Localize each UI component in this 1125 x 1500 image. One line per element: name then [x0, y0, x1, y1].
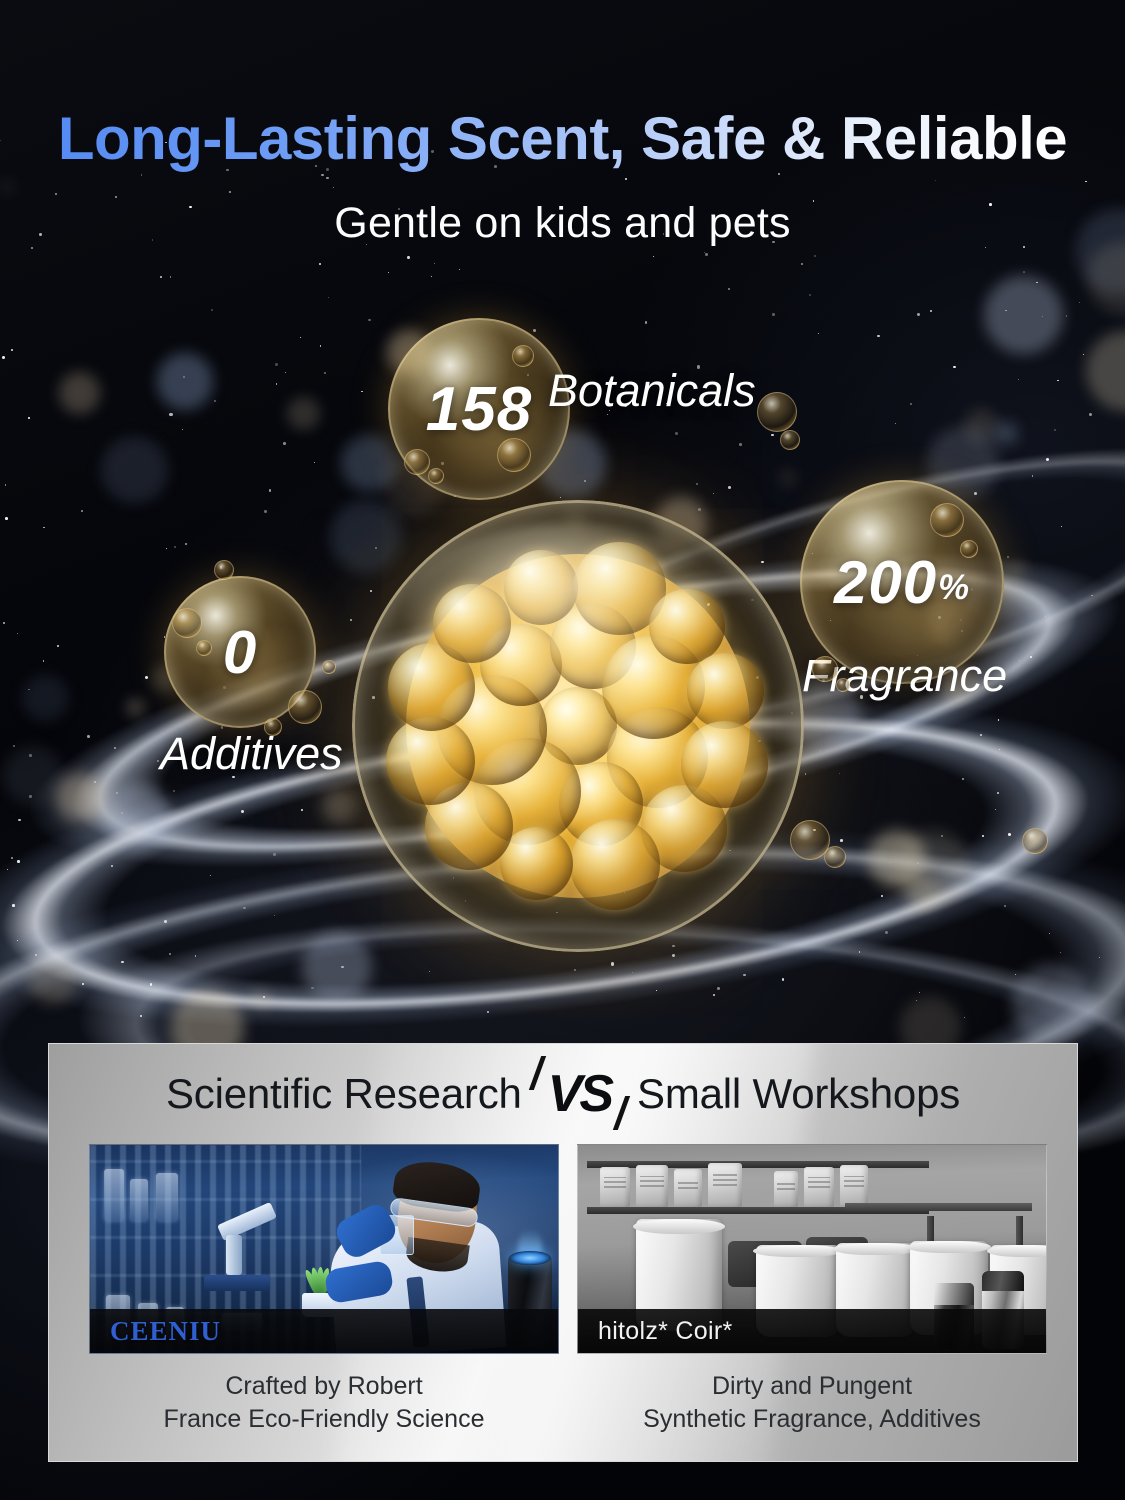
microscope-icon — [198, 1213, 294, 1299]
bottle-icon — [156, 1173, 178, 1221]
lab-brand-bar: CEENIU — [90, 1309, 558, 1353]
bokeh-circle — [127, 699, 144, 716]
decorative-bubble — [780, 430, 800, 450]
bokeh-circle — [287, 397, 320, 430]
lab-photo: CEENIU — [89, 1144, 559, 1354]
comparison-heading: Scientific Research VS Small Workshops — [49, 1044, 1077, 1144]
sphere-droplet — [504, 550, 578, 624]
bokeh-circle — [1086, 331, 1125, 411]
chemical-jug-7 — [840, 1165, 868, 1207]
beaker-icon — [104, 1169, 124, 1221]
workshop-caption-line1: Dirty and Pungent — [577, 1370, 1047, 1403]
chemical-jug-3 — [674, 1169, 702, 1207]
page-title: Long-Lasting Scent, Safe & Reliable — [0, 104, 1125, 173]
sphere-droplet — [681, 721, 768, 808]
comparison-side-scientific: CEENIU Crafted by Robert France Eco-Frie… — [89, 1144, 559, 1436]
stat-value-additives: 0 — [164, 576, 316, 728]
bokeh-circle — [1012, 964, 1093, 1045]
comparison-right-title: Small Workshops — [637, 1070, 960, 1118]
bokeh-circle — [108, 783, 169, 844]
page-subtitle: Gentle on kids and pets — [0, 199, 1125, 248]
bokeh-circle — [22, 675, 69, 722]
decorative-bubble — [757, 392, 797, 432]
bokeh-circle — [322, 789, 357, 824]
stat-value-botanicals: 158 — [388, 318, 570, 500]
comparison-left-title: Scientific Research — [166, 1070, 522, 1118]
bokeh-circle — [253, 992, 268, 1007]
stat-label-additives: Additives — [160, 728, 343, 780]
bokeh-circle — [3, 746, 62, 805]
decorative-bubble — [322, 660, 336, 674]
bokeh-circle — [28, 956, 77, 1005]
sphere-droplet — [649, 589, 725, 665]
lab-caption-line1: Crafted by Robert — [89, 1370, 559, 1403]
brand-logo-competitors: hitolz* Coir* — [598, 1317, 733, 1346]
fragrance-sphere-graphic — [352, 500, 804, 952]
bokeh-circle — [302, 932, 372, 1002]
sphere-droplet — [687, 653, 764, 730]
stat-label-botanicals: Botanicals — [548, 365, 756, 417]
comparison-columns: CEENIU Crafted by Robert France Eco-Frie… — [49, 1144, 1077, 1436]
bokeh-circle — [59, 372, 101, 414]
bokeh-circle — [330, 501, 402, 573]
chemical-jug-5 — [774, 1171, 798, 1207]
bokeh-circle — [0, 180, 14, 194]
chemical-jug-2 — [636, 1165, 668, 1207]
workshop-caption: Dirty and Pungent Synthetic Fragrance, A… — [577, 1370, 1047, 1436]
workshop-photo: hitolz* Coir* — [577, 1144, 1047, 1354]
sphere-droplet — [433, 584, 511, 662]
product-feature-poster: Long-Lasting Scent, Safe & Reliable Gent… — [0, 0, 1125, 1500]
chemical-jug-4 — [708, 1163, 742, 1207]
chemical-jug-1 — [600, 1167, 630, 1207]
bokeh-circle — [1009, 562, 1024, 577]
percent-sign-icon: % — [938, 568, 970, 608]
stat-bubble-additives: 0 — [164, 576, 316, 728]
comparison-panel: Scientific Research VS Small Workshops — [48, 1043, 1078, 1462]
bokeh-circle — [101, 437, 167, 503]
sphere-droplet — [570, 819, 661, 910]
flask-icon — [130, 1179, 148, 1221]
stat-number-fragrance: 200 — [834, 548, 937, 617]
decorative-bubble — [824, 846, 846, 868]
bokeh-circle — [984, 276, 1063, 355]
workshop-brand-bar: hitolz* Coir* — [578, 1309, 1046, 1353]
bokeh-circle — [779, 469, 796, 486]
bokeh-circle — [56, 773, 104, 821]
workshop-caption-line2: Synthetic Fragrance, Additives — [577, 1403, 1047, 1436]
vs-badge-icon: VS — [544, 1064, 615, 1124]
stat-bubble-fragrance: 200% — [800, 480, 1004, 684]
stat-bubble-botanicals: 158 — [388, 318, 570, 500]
comparison-side-workshop: hitolz* Coir* Dirty and Pungent Syntheti… — [577, 1144, 1047, 1436]
chemical-jug-6 — [804, 1167, 834, 1207]
workbench — [845, 1203, 1032, 1211]
stat-value-fragrance: 200% — [800, 480, 1004, 684]
lab-caption-line2: France Eco-Friendly Science — [89, 1403, 559, 1436]
brand-logo-ceeniu: CEENIU — [110, 1316, 221, 1347]
bokeh-circle — [906, 876, 941, 911]
lab-caption: Crafted by Robert France Eco-Friendly Sc… — [89, 1370, 559, 1436]
bokeh-circle — [157, 353, 213, 409]
decorative-bubble — [1022, 828, 1048, 854]
